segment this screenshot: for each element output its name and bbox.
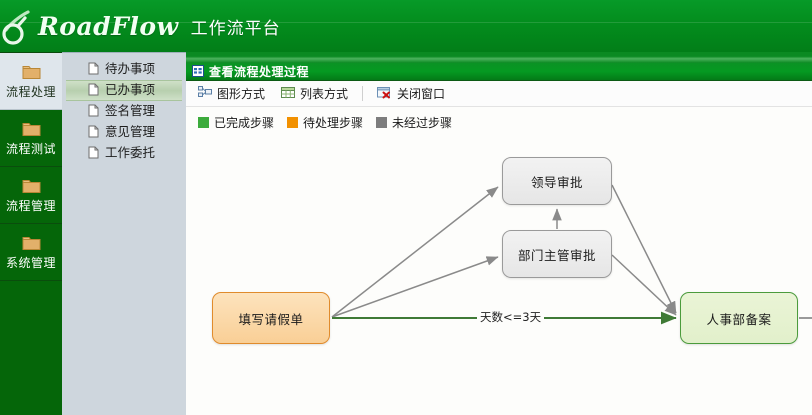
node-fill-leave-form[interactable]: 填写请假单 — [212, 292, 330, 344]
sidebar: 流程处理 流程测试 流程管理 — [0, 52, 62, 415]
swirl-logo-icon — [0, 0, 40, 52]
application-window: RoadFlow 工作流平台 流程处理 流程测试 — [0, 0, 812, 415]
grid-icon — [192, 62, 204, 81]
legend-label: 已完成步骤 — [214, 114, 274, 131]
close-window-button[interactable]: 关闭窗口 — [369, 82, 453, 105]
legend-swatch-completed — [198, 117, 209, 128]
close-window-label: 关闭窗口 — [397, 85, 445, 102]
folder-icon — [22, 122, 41, 140]
close-window-icon — [377, 86, 392, 102]
sidebar-item-label: 流程处理 — [6, 86, 56, 98]
edge-fill-to-leader — [332, 187, 498, 317]
menu-item-daibanshixiang[interactable]: 待办事项 — [66, 59, 182, 80]
graphic-view-button[interactable]: 图形方式 — [190, 82, 273, 105]
node-leader-approval[interactable]: 领导审批 — [502, 157, 612, 205]
node-label: 人事部备案 — [706, 309, 771, 328]
node-department-manager-approval[interactable]: 部门主管审批 — [502, 230, 612, 278]
list-view-label: 列表方式 — [300, 85, 348, 102]
menu-item-label: 签名管理 — [105, 105, 155, 118]
app-header: RoadFlow 工作流平台 — [0, 0, 812, 52]
sidebar-item-label: 系统管理 — [6, 257, 56, 269]
workflow-diagram-canvas[interactable]: 填写请假单 部门主管审批 领导审批 人事部备案 天数<=3天 — [186, 137, 812, 415]
edge-fill-to-manager — [332, 257, 498, 317]
sidebar-item-liuchengceshi[interactable]: 流程测试 — [0, 110, 62, 167]
sidebar-item-liuchengguanli[interactable]: 流程管理 — [0, 167, 62, 224]
content-panel: 查看流程处理过程 图形方式 — [186, 52, 812, 415]
legend: 已完成步骤 待处理步骤 未经过步骤 — [186, 107, 812, 137]
node-hr-filing[interactable]: 人事部备案 — [680, 292, 798, 344]
menu-item-yibanshixiang[interactable]: 已办事项 — [66, 80, 182, 101]
submenu-panel: 待办事项 已办事项 签名管理 — [62, 52, 186, 415]
document-icon — [88, 104, 99, 120]
document-icon — [88, 62, 99, 78]
brand-subtitle: 工作流平台 — [191, 14, 281, 39]
brand-name: RoadFlow — [38, 12, 179, 41]
graphic-view-label: 图形方式 — [217, 85, 265, 102]
document-icon — [88, 125, 99, 141]
legend-label: 待处理步骤 — [303, 114, 363, 131]
legend-swatch-not-reached — [376, 117, 387, 128]
menu-item-qianmingguanli[interactable]: 签名管理 — [66, 101, 182, 122]
menu-item-gongzuoweituo[interactable]: 工作委托 — [66, 143, 182, 164]
document-icon — [88, 146, 99, 162]
node-label: 填写请假单 — [238, 309, 303, 328]
edge-leader-to-hr — [612, 185, 676, 313]
toolbar-separator — [362, 86, 363, 101]
legend-swatch-pending — [287, 117, 298, 128]
diagram-icon — [198, 85, 212, 102]
sidebar-item-label: 流程管理 — [6, 200, 56, 212]
menu-item-label: 工作委托 — [105, 147, 155, 160]
legend-item-not-reached: 未经过步骤 — [376, 114, 452, 131]
menu-item-label: 待办事项 — [105, 63, 155, 76]
toolbar: 图形方式 列表方式 — [186, 81, 812, 107]
header-sheen — [0, 22, 812, 23]
page-title: 查看流程处理过程 — [209, 63, 309, 80]
content-top-strip — [186, 52, 812, 63]
edge-manager-to-hr — [612, 255, 676, 315]
sidebar-item-label: 流程测试 — [6, 143, 56, 155]
sidebar-item-xitongguanli[interactable]: 系统管理 — [0, 224, 62, 281]
sidebar-item-liuchengchuli[interactable]: 流程处理 — [0, 53, 62, 110]
node-label: 部门主管审批 — [518, 245, 596, 264]
table-icon — [281, 86, 295, 102]
legend-item-completed: 已完成步骤 — [198, 114, 274, 131]
legend-item-pending: 待处理步骤 — [287, 114, 363, 131]
menu-item-yijianguanli[interactable]: 意见管理 — [66, 122, 182, 143]
edge-label-days-condition: 天数<=3天 — [477, 309, 544, 325]
panel-titlebar: 查看流程处理过程 — [186, 63, 812, 81]
node-label: 领导审批 — [531, 172, 583, 191]
folder-icon — [22, 65, 41, 83]
menu-item-label: 意见管理 — [105, 126, 155, 139]
legend-label: 未经过步骤 — [392, 114, 452, 131]
menu-item-label: 已办事项 — [105, 84, 155, 97]
list-view-button[interactable]: 列表方式 — [273, 82, 356, 105]
document-icon — [88, 83, 99, 99]
folder-icon — [22, 179, 41, 197]
folder-icon — [22, 236, 41, 254]
diagram-edges — [186, 137, 812, 415]
